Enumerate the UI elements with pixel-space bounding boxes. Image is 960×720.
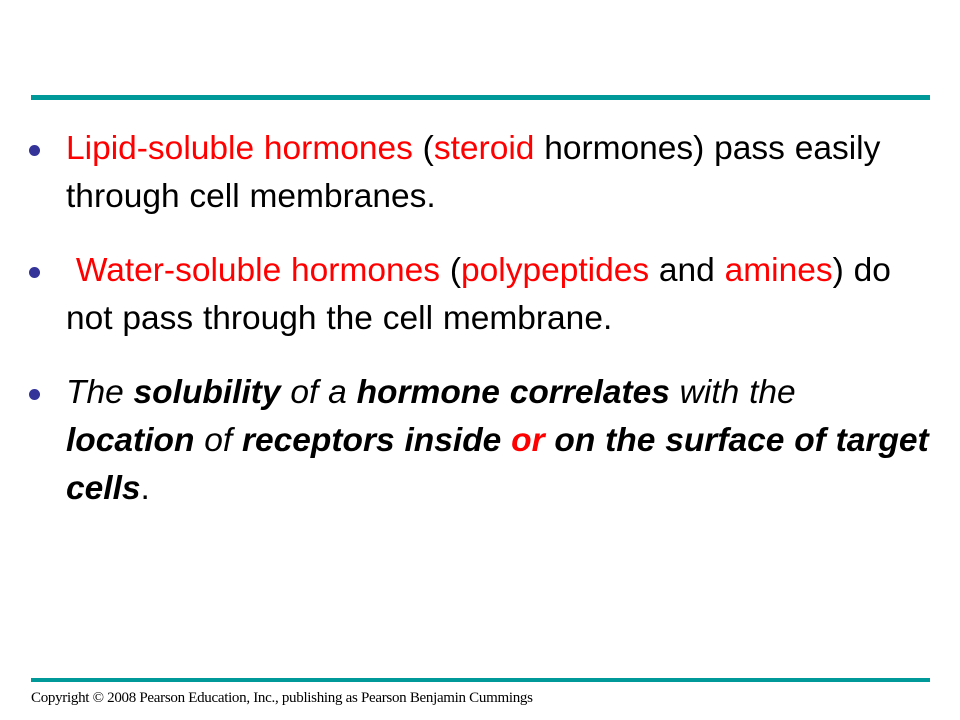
text-segment: of [194, 422, 242, 459]
text-segment: of a [281, 374, 357, 411]
bullet-text-lipid-soluble: Lipid-soluble hormones (steroid hormones… [66, 125, 930, 221]
bullet-dot-icon [29, 389, 40, 400]
text-segment: hormone correlates [357, 374, 670, 411]
copyright-footer: Copyright © 2008 Pearson Education, Inc.… [31, 689, 533, 707]
text-segment: with the [670, 374, 806, 411]
top-divider-rule [31, 95, 930, 100]
text-segment [66, 252, 76, 289]
text-segment: ( [413, 130, 434, 167]
slide-canvas: Lipid-soluble hormones (steroid hormones… [0, 0, 960, 720]
list-item: Water-soluble hormones (polypeptides and… [0, 247, 930, 343]
text-segment: location [66, 422, 194, 459]
text-segment: The [66, 374, 134, 411]
bullet-dot-icon [29, 267, 40, 278]
list-item: Lipid-soluble hormones (steroid hormones… [0, 125, 930, 221]
text-segment: amines [725, 252, 833, 289]
text-segment: receptors inside [242, 422, 511, 459]
text-segment-highlight: or [511, 422, 545, 459]
text-segment: . [141, 470, 150, 507]
text-segment: Water-soluble hormones [76, 252, 440, 289]
text-segment: ( [440, 252, 461, 289]
bottom-divider-rule [31, 678, 930, 682]
text-segment: solubility [134, 374, 281, 411]
text-segment: steroid [434, 130, 535, 167]
bullet-dot-icon [29, 145, 40, 156]
bullet-text-solubility-location: The solubility of a hormone correlates w… [66, 369, 930, 513]
text-segment: Lipid-soluble hormones [66, 130, 413, 167]
list-item: The solubility of a hormone correlates w… [0, 369, 930, 513]
bullet-text-water-soluble: Water-soluble hormones (polypeptides and… [66, 247, 930, 343]
bullet-list: Lipid-soluble hormones (steroid hormones… [0, 125, 930, 513]
text-segment: polypeptides [461, 252, 649, 289]
text-segment: and [649, 252, 725, 289]
